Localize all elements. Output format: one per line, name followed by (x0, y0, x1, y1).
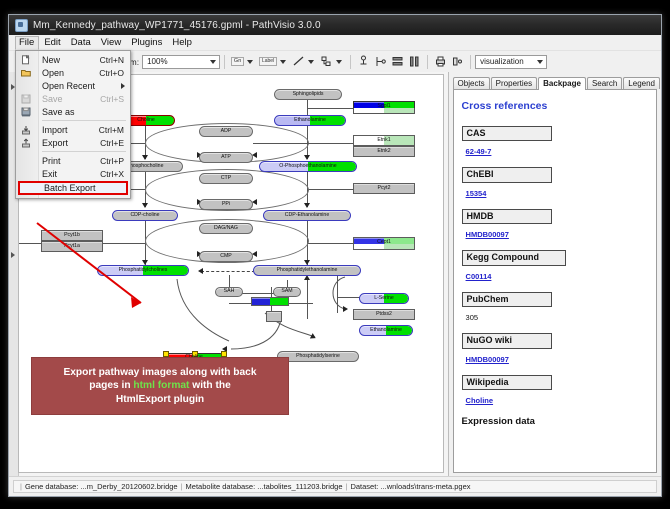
xref-nugo-wiki: NuGO wiki HMDB00097 (462, 333, 650, 366)
xref-chebi: ChEBI 15354 (462, 167, 650, 200)
annotation-line1: Export pathway images along with back (63, 367, 256, 378)
pathvisio-icon (15, 19, 28, 32)
node-ppi[interactable]: PPi (199, 199, 253, 210)
align-left-button[interactable] (373, 54, 388, 69)
menu-item-label: Save as (42, 107, 75, 117)
color-legend-button[interactable] (450, 54, 465, 69)
xref-value: 305 (466, 313, 479, 322)
save-as-icon (21, 107, 31, 117)
align-left-icon (374, 55, 387, 68)
line-tool-button[interactable] (291, 54, 306, 69)
xref-link[interactable]: 62-49-7 (466, 147, 492, 156)
title-bar: Mm_Kennedy_pathway_WP1771_45176.gpml - P… (9, 15, 661, 35)
shape-tool-button[interactable] (319, 54, 334, 69)
xref-link[interactable]: 15354 (466, 189, 487, 198)
node-ptdss2[interactable]: Ptdss2 (353, 309, 415, 320)
genebox-icon: Gn (231, 57, 244, 67)
save-disk-icon (21, 94, 31, 104)
xref-db-name: PubChem (462, 292, 552, 307)
side-panel: Objects Properties Backpage Search Legen… (449, 72, 661, 476)
xref-db-name: Wikipedia (462, 375, 552, 390)
file-menu-dropdown: New Ctrl+N Open Ctrl+O Open Recent Save … (15, 50, 131, 199)
dataset-label: Dataset: (350, 482, 378, 491)
node-l-serine[interactable]: L-Serine (359, 293, 409, 304)
gene-database-value: ...m_Derby_20120602.bridge (80, 482, 177, 491)
status-bar-content: | Gene database: ...m_Derby_20120602.bri… (13, 480, 657, 493)
distribute-horizontal-button[interactable] (407, 54, 422, 69)
node-etnk2[interactable]: Etnk2 (353, 146, 415, 157)
annotation-banner: Export pathway images along with back pa… (31, 357, 289, 415)
toolbar-separator (224, 55, 225, 69)
node-ctp[interactable]: CTP (199, 173, 253, 184)
gene-database-label: Gene database: (25, 482, 78, 491)
node-cdp-ethanolamine[interactable]: CDP-Ethanolamine (263, 210, 351, 221)
submenu-arrow-icon (121, 83, 130, 89)
interaction-shape-icon (320, 55, 333, 68)
menu-data[interactable]: Data (67, 36, 96, 49)
dataset-value: ...wnloads\trans-meta.pgex (380, 482, 470, 491)
toolbar-separator-2 (350, 55, 351, 69)
line-dropdown-icon[interactable] (308, 60, 314, 64)
menu-edit[interactable]: Edit (40, 36, 65, 49)
toolbar-separator-3 (427, 55, 428, 69)
xref-db-name: Kegg Compound (462, 250, 566, 265)
node-dag-nag[interactable]: DAG/NAG (199, 223, 253, 234)
xref-link[interactable]: Choline (466, 396, 494, 405)
menu-item-label: Import (42, 125, 68, 135)
menu-item-batch-export[interactable]: Batch Export (18, 181, 128, 195)
menu-item-accel: Ctrl+N (100, 55, 130, 65)
node-phosphatidylserine[interactable]: Phosphatidylserine (277, 351, 359, 362)
tab-backpage[interactable]: Backpage (538, 77, 586, 90)
menu-item-label: Save (42, 94, 63, 104)
expression-data-heading: Expression data (462, 416, 650, 427)
menu-bar: File Edit Data View Plugins Help (9, 35, 661, 51)
cross-references-heading: Cross references (462, 100, 650, 112)
chevron-down-icon (537, 60, 543, 64)
pathvisio-window: Mm_Kennedy_pathway_WP1771_45176.gpml - P… (8, 14, 662, 497)
metabolite-database-value: ...tabolites_111203.bridge (257, 482, 342, 491)
menu-item-accel: Ctrl+X (100, 169, 130, 179)
annotation-highlight: html format (133, 380, 189, 391)
menu-item-label: New (42, 55, 60, 65)
chevron-down-icon (210, 60, 216, 64)
menu-item-exit[interactable]: Exit Ctrl+X (16, 167, 130, 180)
menu-item-accel: Ctrl+S (100, 94, 130, 104)
align-top-icon (357, 55, 370, 68)
xref-kegg-compound: Kegg Compound C00114 (462, 250, 650, 283)
label-icon: Label (259, 57, 277, 66)
xref-hmdb: HMDB HMDB00097 (462, 209, 650, 242)
menu-item-save-as[interactable]: Save as (16, 105, 130, 118)
side-panel-tabs: Objects Properties Backpage Search Legen… (449, 74, 661, 89)
distribute-vertical-icon (391, 55, 404, 68)
xref-link[interactable]: C00114 (466, 272, 492, 281)
diagonal-line-icon (292, 55, 305, 68)
toolbar-separator-4 (470, 55, 471, 69)
menu-item-print[interactable]: Print Ctrl+P (16, 154, 130, 167)
annotation-line2-post: with the (189, 380, 230, 391)
node-sam[interactable]: SAM (273, 287, 301, 297)
menu-item-export[interactable]: Export Ctrl+E (16, 136, 130, 149)
node-pcyt2[interactable]: Pcyt2 (353, 183, 415, 194)
xref-pubchem: PubChem 305 (462, 292, 650, 325)
menu-item-label: Batch Export (44, 183, 96, 193)
menu-item-open[interactable]: Open Ctrl+O (16, 66, 130, 79)
menu-view[interactable]: View (97, 36, 126, 49)
metabolite-database-label: Metabolite database: (186, 482, 256, 491)
label-tool-button[interactable]: Label (258, 54, 278, 69)
label-dropdown-icon[interactable] (280, 60, 286, 64)
open-folder-icon (21, 68, 31, 78)
menu-separator (42, 120, 126, 121)
menu-item-label: Open Recent (42, 81, 95, 91)
tab-search[interactable]: Search (587, 77, 622, 89)
color-legend-icon (451, 55, 464, 68)
shape-dropdown-icon[interactable] (336, 60, 342, 64)
datanode-dropdown-icon[interactable] (247, 60, 253, 64)
tab-properties[interactable]: Properties (491, 77, 537, 89)
node-atp[interactable]: ATP (199, 152, 253, 163)
menu-file[interactable]: File (15, 36, 39, 50)
node-complex-box[interactable] (266, 311, 282, 322)
node-sphingolipids[interactable]: Sphingolipids (274, 89, 342, 100)
menu-item-accel: Ctrl+O (99, 68, 130, 78)
menu-item-accel: Ctrl+M (99, 125, 130, 135)
node-cdp-choline[interactable]: CDP-choline (112, 210, 178, 221)
expression-half-green (270, 298, 288, 305)
node-pcyt1b[interactable]: Pcyt1b (41, 230, 103, 241)
distribute-vertical-button[interactable] (390, 54, 405, 69)
xref-link[interactable]: HMDB00097 (466, 230, 509, 239)
node-sah[interactable]: SAH (215, 287, 243, 297)
menu-separator (42, 151, 126, 152)
xref-wikipedia: Wikipedia Choline (462, 375, 650, 408)
menu-item-label: Export (42, 138, 68, 148)
menu-item-accel: Ctrl+P (100, 156, 130, 166)
import-icon (21, 125, 31, 135)
menu-item-label: Print (42, 156, 61, 166)
status-bar: | Gene database: ...m_Derby_20120602.bri… (9, 476, 661, 496)
tab-legend[interactable]: Legend (623, 77, 660, 89)
menu-help[interactable]: Help (168, 36, 197, 49)
visualization-combo[interactable]: visualization (475, 55, 547, 69)
node-ethanolamine[interactable]: Ethanolamine (274, 115, 346, 126)
menu-item-label: Exit (42, 169, 57, 179)
window-title: Mm_Kennedy_pathway_WP1771_45176.gpml - P… (33, 20, 321, 31)
menu-plugins[interactable]: Plugins (127, 36, 167, 49)
node-etnk1[interactable]: Etnk1 (353, 135, 415, 146)
xref-db-name: HMDB (462, 209, 552, 224)
visualization-value: visualization (480, 57, 524, 66)
node-o-phosphoethanolamine[interactable]: O-Phosphoethanolamine (259, 161, 357, 172)
datanode-tool-button[interactable]: Gn (230, 54, 245, 69)
menu-item-accel: Ctrl+E (100, 138, 130, 148)
annotation-line3: HtmlExport plugin (116, 394, 204, 405)
menu-item-import[interactable]: Import Ctrl+M (16, 123, 130, 136)
distribute-horizontal-icon (408, 55, 421, 68)
tab-objects[interactable]: Objects (453, 77, 490, 89)
menu-item-open-recent[interactable]: Open Recent (16, 79, 130, 92)
node-adp[interactable]: ADP (199, 126, 253, 137)
print-button[interactable] (433, 54, 448, 69)
node-pcyt1a[interactable]: Pcyt1a (41, 241, 103, 252)
xref-db-name: CAS (462, 126, 552, 141)
print-icon (434, 55, 447, 68)
backpage-content: Cross references CAS 62-49-7 ChEBI 15354… (453, 89, 657, 473)
node-ethanolamine-2[interactable]: Ethanolamine (359, 325, 413, 336)
annotation-line2-pre: pages in (89, 380, 133, 391)
menu-item-label: Open (42, 68, 64, 78)
node-phosphatidylcholines[interactable]: Phosphatidylcholines (97, 265, 189, 276)
menu-item-new[interactable]: New Ctrl+N (16, 53, 130, 66)
zoom-combo[interactable]: 100% (142, 55, 220, 69)
node-cmp[interactable]: CMP (199, 251, 253, 262)
align-top-button[interactable] (356, 54, 371, 69)
xref-db-name: ChEBI (462, 167, 552, 182)
zoom-value: 100% (147, 57, 167, 66)
xref-cas: CAS 62-49-7 (462, 126, 650, 159)
node-phosphatidylethanolamine[interactable]: Phosphatidylethanolamine (253, 265, 361, 276)
menu-item-save: Save Ctrl+S (16, 92, 130, 105)
xref-db-name: NuGO wiki (462, 333, 552, 348)
new-file-icon (21, 55, 31, 65)
export-icon (21, 138, 31, 148)
node-pemt[interactable] (251, 297, 289, 306)
xref-link[interactable]: HMDB00097 (466, 355, 509, 364)
